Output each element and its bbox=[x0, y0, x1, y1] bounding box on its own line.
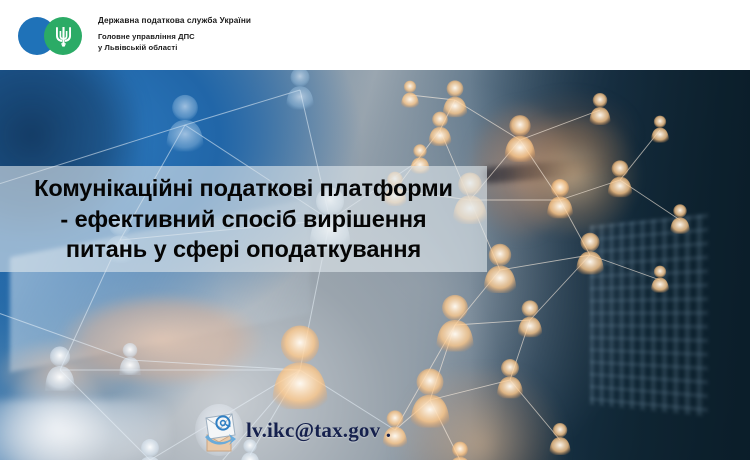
circle-green-trident-icon bbox=[44, 17, 82, 55]
envelope-at-icon bbox=[196, 404, 242, 456]
title-banner: Комунікаційні податкові платформи - ефек… bbox=[0, 166, 487, 272]
page-header: Державна податкова служба України Головн… bbox=[0, 0, 750, 70]
slide-title: Комунікаційні податкові платформи - ефек… bbox=[28, 173, 459, 265]
agency-title-block: Державна податкова служба України Головн… bbox=[98, 17, 251, 53]
email-address[interactable]: lv.ikc@tax.gov . bbox=[246, 418, 391, 443]
trident-icon bbox=[54, 25, 73, 48]
agency-unit: Головне управління ДПС у Львівській обла… bbox=[98, 32, 251, 53]
slide-canvas: Комунікаційні податкові платформи - ефек… bbox=[0, 0, 750, 460]
agency-logo bbox=[18, 15, 84, 55]
agency-name: Державна податкова служба України bbox=[98, 17, 251, 25]
contact-email-block[interactable]: lv.ikc@tax.gov . bbox=[196, 404, 391, 456]
